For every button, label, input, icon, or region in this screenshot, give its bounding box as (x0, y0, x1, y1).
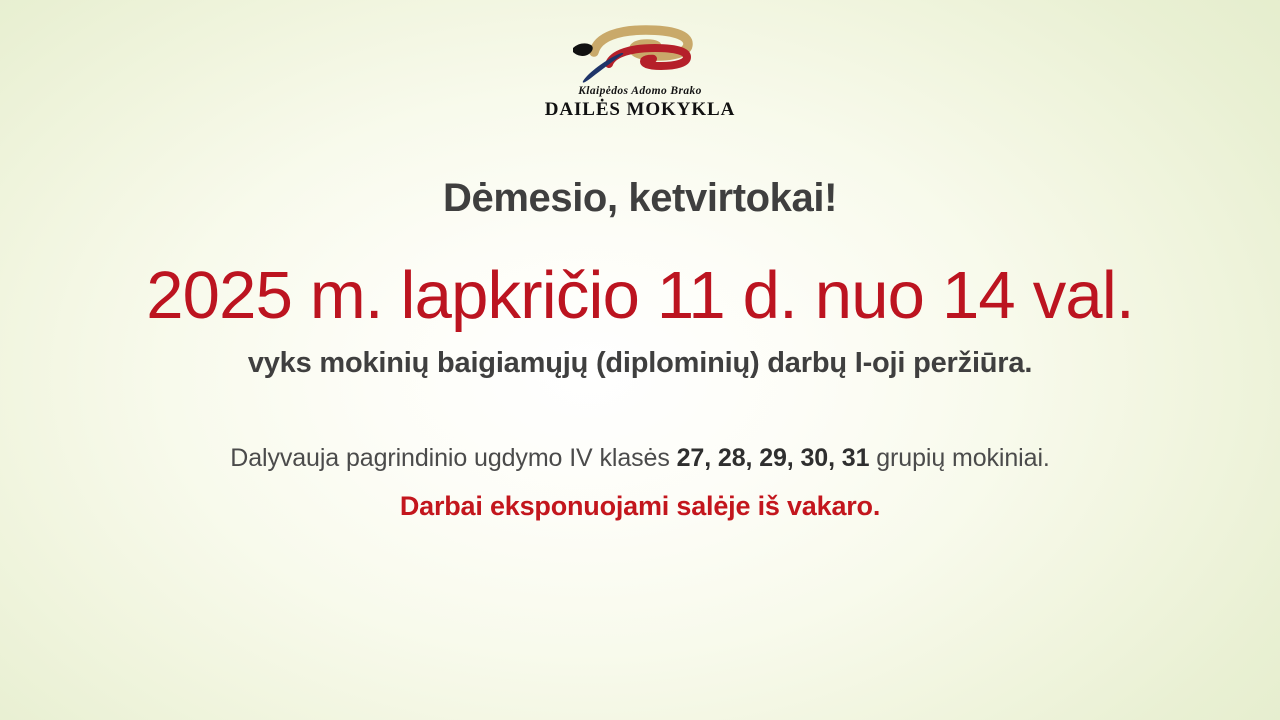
attention-heading: Dėmesio, ketvirtokai! (0, 176, 1280, 220)
participant-groups-line: Dalyvauja pagrindinio ugdymo IV klasės 2… (0, 443, 1280, 474)
exhibition-note: Darbai eksponuojami salėje iš vakaro. (0, 490, 1280, 522)
logo-name-text: DAILĖS MOKYKLA (545, 99, 735, 121)
groups-prefix-text: Dalyvauja pagrindinio ugdymo IV klasės (230, 444, 676, 472)
school-logo: Klaipėdos Adomo Brako DAILĖS MOKYKLA (0, 22, 1280, 120)
event-datetime-headline: 2025 m. lapkričio 11 d. nuo 14 val. (0, 260, 1280, 332)
groups-suffix-text: grupių mokiniai. (869, 444, 1049, 472)
event-description: vyks mokinių baigiamųjų (diplominių) dar… (0, 346, 1280, 381)
groups-numbers: 27, 28, 29, 30, 31 (677, 444, 870, 472)
logo-mark-icon (560, 22, 720, 84)
announcement-body: Dėmesio, ketvirtokai! 2025 m. lapkričio … (0, 176, 1280, 523)
announcement-slide: Klaipėdos Adomo Brako DAILĖS MOKYKLA Dėm… (0, 0, 1280, 720)
logo-script-text: Klaipėdos Adomo Brako (578, 85, 702, 98)
